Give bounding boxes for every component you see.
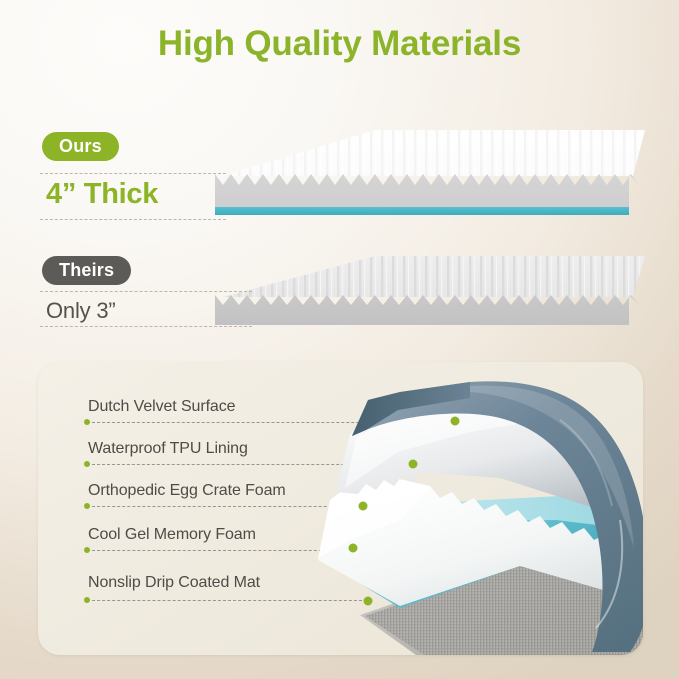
layer-label-5: Nonslip Drip Coated Mat — [88, 574, 260, 592]
theirs-measure-rule-top — [40, 291, 252, 292]
theirs-mattress-illustration — [205, 253, 645, 331]
layer-leader-1 — [87, 422, 459, 423]
layer-dot-1 — [84, 419, 90, 425]
layer-dot-2 — [84, 461, 90, 467]
ours-mattress-illustration — [205, 128, 645, 224]
ours-measure-rule-bottom — [40, 219, 226, 220]
layer-label-4: Cool Gel Memory Foam — [88, 526, 256, 544]
page-title: High Quality Materials — [0, 24, 679, 64]
infographic-root: High Quality Materials — [0, 0, 679, 679]
theirs-thickness-label: Only 3” — [46, 298, 116, 324]
layer-label-1: Dutch Velvet Surface — [88, 398, 235, 416]
layer-leader-2 — [87, 464, 419, 465]
badge-ours: Ours — [42, 132, 119, 161]
layer-dot-5 — [84, 597, 90, 603]
badge-theirs: Theirs — [42, 256, 131, 285]
layers-card: Dutch Velvet Surface Waterproof TPU Lini… — [38, 362, 643, 655]
layer-dot-3 — [84, 503, 90, 509]
layer-label-2: Waterproof TPU Lining — [88, 440, 248, 458]
theirs-measure-rule-bottom — [40, 326, 252, 327]
layer-leader-5 — [87, 600, 367, 601]
layer-leader-4 — [87, 550, 347, 551]
ours-measure-rule-top — [40, 173, 226, 174]
layer-dot-4 — [84, 547, 90, 553]
layer-leader-3 — [87, 506, 377, 507]
layer-label-3: Orthopedic Egg Crate Foam — [88, 482, 286, 500]
ours-thickness-label: 4” Thick — [46, 178, 158, 211]
